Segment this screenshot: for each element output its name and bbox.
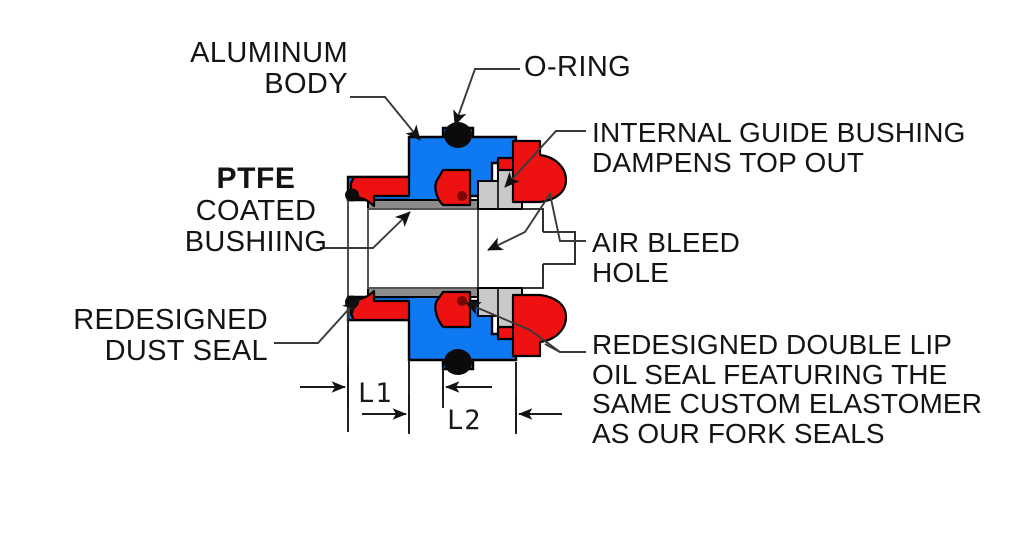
callout-ptfe-coated-bushing: COATEDBUSHIING bbox=[163, 196, 349, 257]
cross-section-drawing bbox=[0, 0, 1024, 539]
callout-dust-seal-line2: DUST SEAL bbox=[105, 335, 268, 367]
callout-oil-seal-line4: AS OUR FORK SEALS bbox=[592, 418, 885, 449]
callout-ptfe-line2: COATED bbox=[196, 195, 317, 227]
inner-bore bbox=[368, 209, 478, 288]
callout-oil-seal-line2: OIL SEAL FEATURING THE bbox=[592, 359, 947, 390]
callout-internal-guide-bushing-line2: DAMPENS TOP OUT bbox=[592, 147, 864, 178]
callout-aluminum-body-line2: BODY bbox=[264, 68, 348, 100]
inner-seal-bead-lower bbox=[457, 296, 467, 306]
callout-dust-seal-line1: REDESIGNED bbox=[73, 304, 268, 336]
callout-aluminum-body: ALUMINUMBODY bbox=[178, 38, 348, 99]
canvas-background bbox=[0, 0, 1024, 539]
o-ring-top bbox=[444, 122, 472, 148]
callout-ptfe-line3: BUSHIING bbox=[185, 226, 328, 258]
callout-oil-seal-line3: SAME CUSTOM ELASTOMER bbox=[592, 388, 982, 419]
callout-redesigned-dust-seal: REDESIGNEDDUST SEAL bbox=[63, 305, 268, 366]
o-ring-bottom bbox=[444, 349, 472, 375]
callout-air-bleed-hole: AIR BLEEDHOLE bbox=[592, 228, 740, 287]
callout-ptfe-title: PTFE bbox=[196, 163, 316, 195]
callout-internal-guide-bushing: INTERNAL GUIDE BUSHINGDAMPENS TOP OUT bbox=[592, 118, 966, 177]
callout-internal-guide-bushing-line1: INTERNAL GUIDE BUSHING bbox=[592, 117, 966, 148]
dimension-label-l2: L2 bbox=[447, 405, 482, 436]
callout-oil-seal-line1: REDESIGNED DOUBLE LIP bbox=[592, 329, 952, 360]
callout-ptfe-line1: PTFE bbox=[216, 162, 295, 195]
callout-o-ring: O-RING bbox=[524, 52, 631, 83]
callout-aluminum-body-line1: ALUMINUM bbox=[190, 37, 348, 69]
callout-air-bleed-hole-line1: AIR BLEED bbox=[592, 227, 740, 258]
callout-air-bleed-hole-line2: HOLE bbox=[592, 257, 669, 288]
callout-double-lip-oil-seal: REDESIGNED DOUBLE LIPOIL SEAL FEATURING … bbox=[592, 330, 982, 449]
callout-o-ring-line1: O-RING bbox=[524, 51, 631, 83]
diagram-canvas: ALUMINUMBODY O-RING INTERNAL GUIDE BUSHI… bbox=[0, 0, 1024, 539]
dimension-label-l1: L1 bbox=[358, 378, 393, 409]
inner-seal-bead-upper bbox=[457, 191, 467, 201]
